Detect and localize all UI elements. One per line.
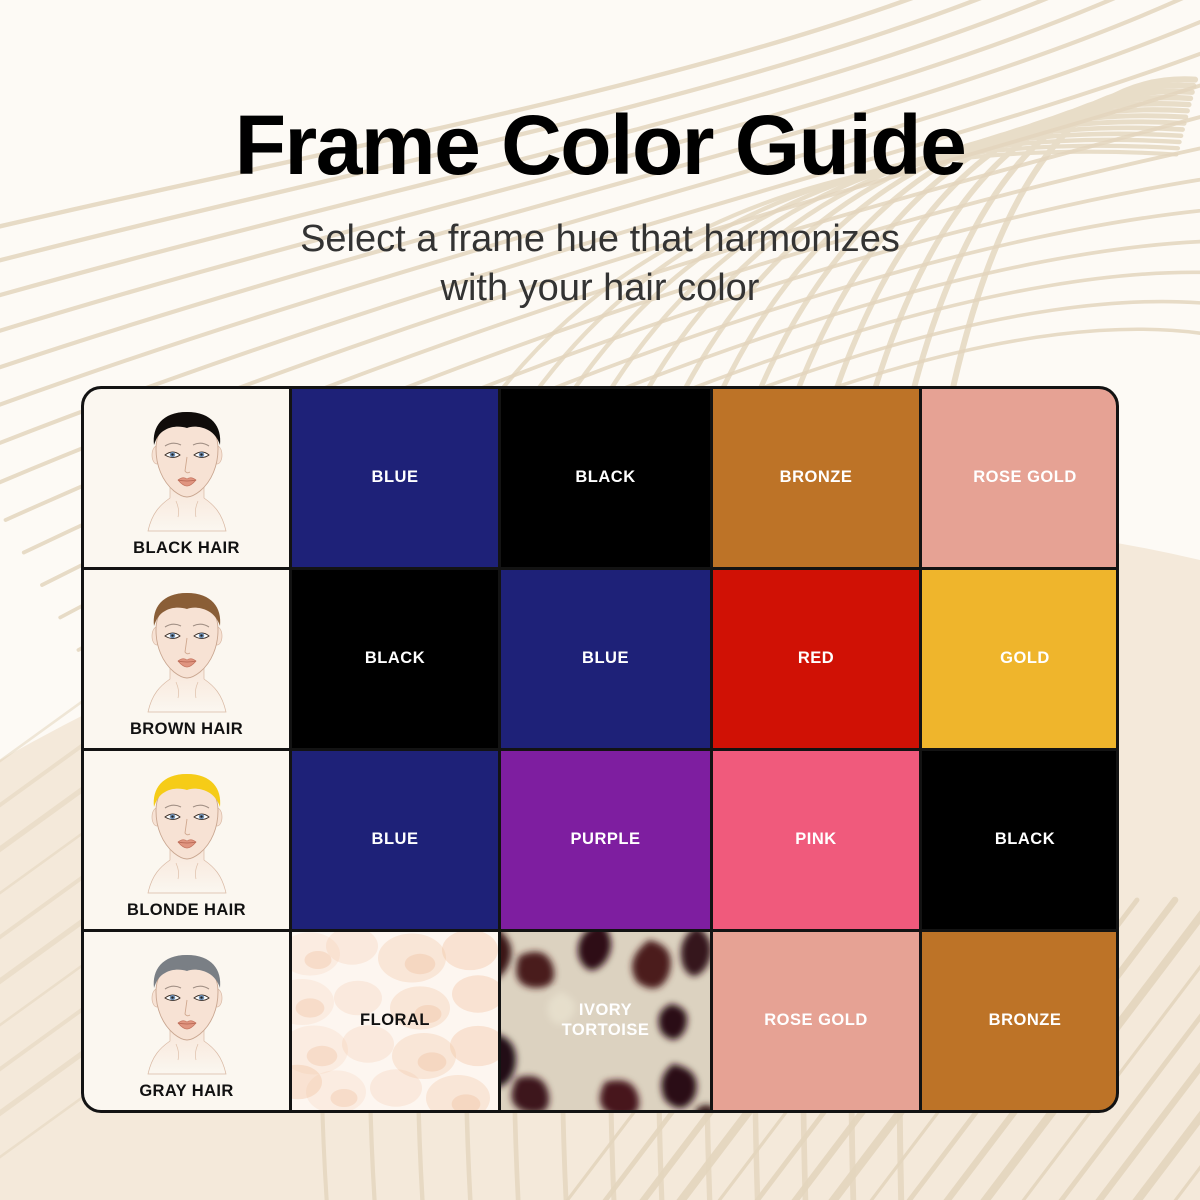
- hair-label: BLONDE HAIR: [127, 901, 246, 920]
- swatch-1-2[interactable]: RED: [713, 570, 919, 748]
- swatch-2-1[interactable]: PURPLE: [501, 751, 710, 929]
- swatch-label: ROSE GOLD: [764, 1011, 868, 1031]
- swatch-3-0[interactable]: FLORAL: [292, 932, 498, 1110]
- swatch-2-3[interactable]: BLACK: [922, 751, 1119, 929]
- swatch-3-2[interactable]: ROSE GOLD: [713, 932, 919, 1110]
- swatch-2-2[interactable]: PINK: [713, 751, 919, 929]
- frame-color-grid: BLACK HAIRBLUEBLACKBRONZEROSE GOLDBROWN …: [81, 386, 1119, 1113]
- hair-cell-0[interactable]: BLACK HAIR: [84, 389, 289, 567]
- hair-label: GRAY HAIR: [139, 1082, 233, 1101]
- swatch-label: BLACK: [365, 649, 425, 669]
- subtitle-line-2: with your hair color: [0, 264, 1200, 313]
- swatch-label: IVORYTORTOISE: [562, 1001, 650, 1041]
- swatch-label: BLUE: [582, 649, 629, 669]
- swatch-label: PURPLE: [571, 830, 641, 850]
- swatch-0-2[interactable]: BRONZE: [713, 389, 919, 567]
- hair-label: BROWN HAIR: [130, 720, 243, 739]
- swatch-2-0[interactable]: BLUE: [292, 751, 498, 929]
- grid-body: BLACK HAIRBLUEBLACKBRONZEROSE GOLDBROWN …: [84, 389, 1116, 1110]
- face-illustration: [132, 944, 242, 1080]
- swatch-label: FLORAL: [360, 1011, 430, 1031]
- swatch-1-1[interactable]: BLUE: [501, 570, 710, 748]
- swatch-3-3[interactable]: BRONZE: [922, 932, 1119, 1110]
- swatch-label: BLACK: [575, 468, 635, 488]
- swatch-label: RED: [798, 649, 834, 669]
- hair-label: BLACK HAIR: [133, 539, 240, 558]
- hair-cell-2[interactable]: BLONDE HAIR: [84, 751, 289, 929]
- swatch-label: BRONZE: [780, 468, 853, 488]
- subtitle-line-1: Select a frame hue that harmonizes: [0, 215, 1200, 264]
- swatch-label: BLUE: [372, 830, 419, 850]
- hair-cell-1[interactable]: BROWN HAIR: [84, 570, 289, 748]
- page-title: Frame Color Guide: [0, 103, 1200, 187]
- face-illustration: [132, 582, 242, 718]
- page-subtitle: Select a frame hue that harmonizes with …: [0, 215, 1200, 312]
- swatch-1-3[interactable]: GOLD: [922, 570, 1119, 748]
- hair-cell-3[interactable]: GRAY HAIR: [84, 932, 289, 1110]
- face-illustration: [132, 763, 242, 899]
- swatch-label: GOLD: [1000, 649, 1050, 669]
- swatch-label: ROSE GOLD: [973, 468, 1077, 488]
- face-illustration: [132, 401, 242, 537]
- swatch-label: BLACK: [995, 830, 1055, 850]
- swatch-0-1[interactable]: BLACK: [501, 389, 710, 567]
- swatch-1-0[interactable]: BLACK: [292, 570, 498, 748]
- swatch-0-3[interactable]: ROSE GOLD: [922, 389, 1119, 567]
- swatch-label: PINK: [795, 830, 836, 850]
- swatch-label: BRONZE: [989, 1011, 1062, 1031]
- swatch-0-0[interactable]: BLUE: [292, 389, 498, 567]
- swatch-label: BLUE: [372, 468, 419, 488]
- header: Frame Color Guide Select a frame hue tha…: [0, 0, 1200, 312]
- swatch-3-1[interactable]: IVORYTORTOISE: [501, 932, 710, 1110]
